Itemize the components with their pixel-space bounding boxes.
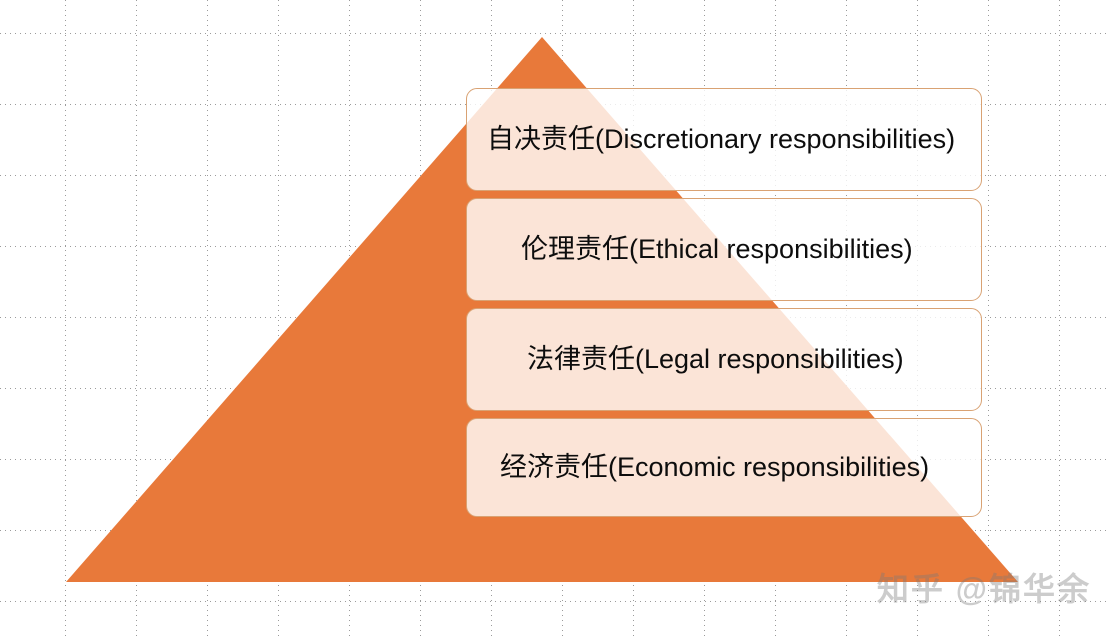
diagram-canvas: 自决责任(Discretionary responsibilities) 伦理责…: [0, 0, 1109, 638]
pyramid-layer-legal[interactable]: 法律责任(Legal responsibilities): [466, 308, 982, 411]
pyramid-layer-label: 伦理责任(Ethical responsibilities): [521, 235, 913, 265]
pyramid-layer-discretionary[interactable]: 自决责任(Discretionary responsibilities): [466, 88, 982, 191]
pyramid-layer-label: 法律责任(Legal responsibilities): [527, 345, 904, 375]
pyramid-layer-economic[interactable]: 经济责任(Economic responsibilities): [466, 418, 982, 517]
pyramid-layer-ethical[interactable]: 伦理责任(Ethical responsibilities): [466, 198, 982, 301]
pyramid-layer-label: 自决责任(Discretionary responsibilities): [487, 125, 955, 155]
pyramid-layer-label: 经济责任(Economic responsibilities): [500, 453, 929, 483]
